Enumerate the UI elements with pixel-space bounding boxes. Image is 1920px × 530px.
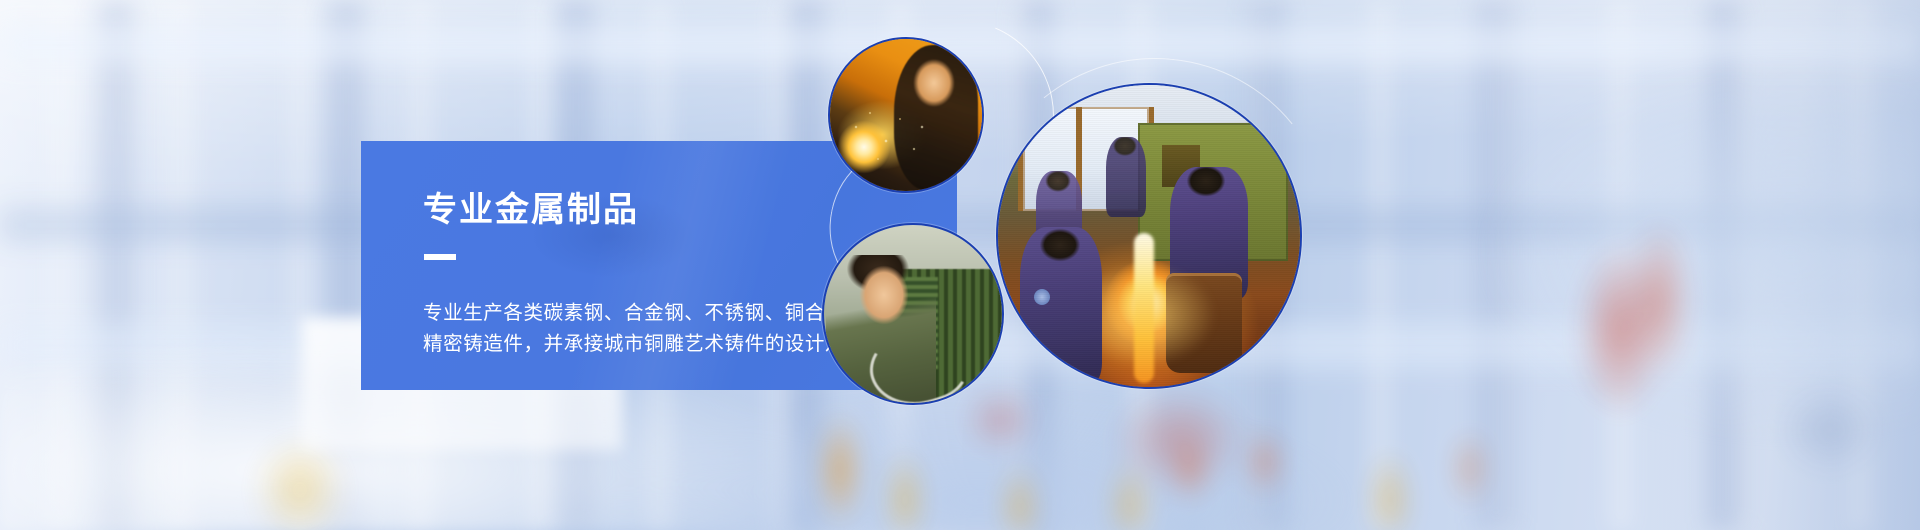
welding-photo bbox=[828, 37, 984, 193]
welding-photo-sparks bbox=[848, 97, 938, 171]
hero-banner: 专业金属制品 专业生产各类碳素钢、合金钢、不锈钢、铜合金等 精密铸造件，并承接城… bbox=[0, 0, 1920, 530]
inspection-photo bbox=[822, 223, 1004, 405]
title-divider bbox=[424, 254, 456, 260]
page-title: 专业金属制品 bbox=[423, 193, 639, 227]
foundry-photo bbox=[996, 83, 1302, 389]
foundry-photo-grain bbox=[998, 85, 1300, 387]
